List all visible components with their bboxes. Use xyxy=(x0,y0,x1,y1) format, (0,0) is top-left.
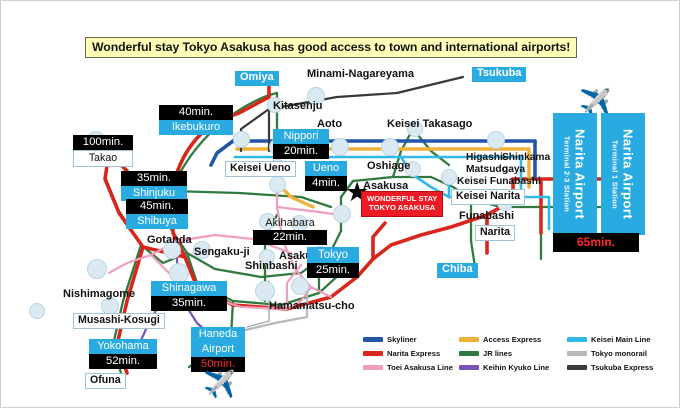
station-sengakuji: Sengaku-ji xyxy=(194,247,250,259)
station-higashi-matsudo-line1: Higashi- xyxy=(466,153,506,164)
station-tsukuba[interactable]: Tsukuba xyxy=(472,67,526,82)
station-musashi-kosugi: Musashi-Kosugi xyxy=(73,313,165,329)
station-nippori-group[interactable]: Nippori 20min. xyxy=(273,129,329,159)
station-hamamatsucho: Hamamatsu-cho xyxy=(269,301,355,313)
station-gotanda: Gotanda xyxy=(147,235,192,247)
station-ikebukuro-group[interactable]: 40min. Ikebukuro xyxy=(159,105,233,135)
station-ofuna: Ofuna xyxy=(85,373,126,389)
narita-terminal-2-3-sub: Terminal 2·3 Station xyxy=(563,136,572,212)
station-dot xyxy=(87,259,107,279)
legend-label: JR lines xyxy=(483,349,512,358)
station-shibuya-group[interactable]: 45min. Shibuya xyxy=(126,199,188,229)
legend-swatch xyxy=(459,337,479,342)
time-takao: 100min. xyxy=(73,135,133,150)
station-shibuya: Shibuya xyxy=(126,214,188,229)
jr-lines xyxy=(105,93,605,373)
station-dot xyxy=(331,138,349,156)
legend-swatch xyxy=(363,351,383,356)
marker-line-2: TOKYO ASAKUSA xyxy=(367,203,437,212)
station-keisei-narita: Keisei Narita xyxy=(451,189,525,205)
station-shinbashi: Shinbashi xyxy=(245,261,298,273)
legend-item-keihin-kyuko-line: Keihin Kyuko Line xyxy=(459,363,567,372)
legend-swatch xyxy=(459,365,479,370)
station-kitasenju: Kitasenju xyxy=(273,101,323,113)
plane-icon: ✈️ xyxy=(579,89,611,115)
legend-item-keisei-main-line: Keisei Main Line xyxy=(567,335,667,344)
station-dot xyxy=(169,263,189,283)
legend-label: Tokyo monorail xyxy=(591,349,647,358)
legend-label: Narita Express xyxy=(387,349,440,358)
route-map: Wonderful stay Tokyo Asakusa has good ac… xyxy=(1,1,679,407)
station-dot xyxy=(333,205,351,223)
legend-item-tsukuba-express: Tsukuba Express xyxy=(567,363,667,372)
time-shinjuku: 35min. xyxy=(121,171,187,186)
narita-terminal-1-panel[interactable]: Narita Airport Terminal 1 Station xyxy=(601,113,645,235)
legend-swatch xyxy=(567,365,587,370)
legend-label: Access Express xyxy=(483,335,541,344)
station-omiya[interactable]: Omiya xyxy=(235,71,279,86)
narita-terminal-1-name: Narita Airport xyxy=(621,129,636,219)
time-shibuya: 45min. xyxy=(126,199,188,214)
legend-swatch xyxy=(459,351,479,356)
time-akihabara: 22min. xyxy=(253,230,327,245)
station-takao-group[interactable]: 100min. Takao xyxy=(73,135,133,167)
station-shinagawa: Shinagawa xyxy=(151,281,227,296)
station-akihabara-group[interactable]: Akihabara 22min. xyxy=(253,217,327,245)
station-nippori: Nippori xyxy=(273,129,329,144)
station-dot xyxy=(291,277,309,295)
legend-swatch xyxy=(363,365,383,370)
station-dot xyxy=(233,131,250,148)
legend-label: Toei Asakusa Line xyxy=(387,363,453,372)
station-tokyo: Tokyo xyxy=(307,247,359,263)
time-nippori: 20min. xyxy=(273,144,329,159)
station-narita: Narita xyxy=(475,225,515,241)
station-ueno-group[interactable]: Ueno 4min. xyxy=(305,161,347,191)
legend-item-jr-lines: JR lines xyxy=(459,349,567,358)
time-narita-airport: 65min. xyxy=(553,233,639,252)
station-dot xyxy=(255,281,275,301)
time-tokyo: 25min. xyxy=(307,263,359,278)
time-ueno: 4min. xyxy=(305,176,347,191)
legend-swatch xyxy=(567,351,587,356)
station-keisei-takasago: Keisei Takasago xyxy=(387,119,472,131)
station-ikebukuro: Ikebukuro xyxy=(159,120,233,135)
station-nishimagome: Nishimagome xyxy=(63,289,135,301)
station-haneda-line2: Airport xyxy=(191,342,245,357)
station-oshiage: Oshiage xyxy=(367,161,410,173)
legend-item-access-express: Access Express xyxy=(459,335,567,344)
station-shinjuku-group[interactable]: 35min. Shinjuku xyxy=(121,171,187,201)
station-yokohama-group[interactable]: Yokohama 52min. xyxy=(89,339,157,369)
legend-swatch xyxy=(363,337,383,342)
station-chiba[interactable]: Chiba xyxy=(437,263,478,278)
station-yokohama: Yokohama xyxy=(89,339,157,354)
narita-terminal-2-3-panel[interactable]: Narita Airport Terminal 2·3 Station xyxy=(553,113,597,235)
station-tokyo-group[interactable]: Tokyo 25min. xyxy=(307,247,359,278)
legend-item-narita-express: Narita Express xyxy=(363,349,459,358)
time-ikebukuro: 40min. xyxy=(159,105,233,120)
station-haneda-line1: Haneda xyxy=(191,327,245,342)
narita-terminal-2-3-name: Narita Airport xyxy=(573,129,588,219)
station-ueno: Ueno xyxy=(305,161,347,176)
station-takao: Takao xyxy=(73,150,133,167)
station-shinkamagaya-line2: gaya xyxy=(502,165,525,176)
station-dot xyxy=(29,303,45,319)
legend-item-skyliner: Skyliner xyxy=(363,335,459,344)
transit-map-page: Wonderful stay Tokyo Asakusa has good ac… xyxy=(0,0,680,408)
legend-item-tokyo-monorail: Tokyo monorail xyxy=(567,349,667,358)
legend: Skyliner Access Express Keisei Main Line… xyxy=(363,335,667,372)
legend-label: Skyliner xyxy=(387,335,417,344)
station-dot xyxy=(269,176,286,193)
plane-icon: ✈️ xyxy=(203,371,235,397)
station-shinagawa-group[interactable]: Shinagawa 35min. xyxy=(151,281,227,311)
station-dot xyxy=(487,131,505,149)
station-haneda-group[interactable]: Haneda Airport 50min. xyxy=(191,327,245,372)
legend-label: Keisei Main Line xyxy=(591,335,651,344)
station-funabashi: Funabashi xyxy=(459,211,514,223)
time-shinagawa: 35min. xyxy=(151,296,227,311)
wonderful-stay-marker[interactable]: WONDERFUL STAY TOKYO ASAKUSA xyxy=(361,191,443,217)
station-shinkamagaya-line1: Shinkama xyxy=(502,153,550,164)
legend-label: Keihin Kyuko Line xyxy=(483,363,549,372)
station-dot xyxy=(441,169,457,185)
station-keisei-funabashi: Keisei Funabashi xyxy=(457,177,541,188)
legend-label: Tsukuba Express xyxy=(591,363,653,372)
headline-banner: Wonderful stay Tokyo Asakusa has good ac… xyxy=(85,37,577,58)
legend-item-toei-asakusa-line: Toei Asakusa Line xyxy=(363,363,459,372)
legend-swatch xyxy=(567,337,587,342)
station-dot xyxy=(381,138,399,156)
station-akihabara: Akihabara xyxy=(253,217,327,229)
station-keisei-ueno: Keisei Ueno xyxy=(225,161,296,177)
narita-terminal-1-sub: Terminal 1 Station xyxy=(611,140,620,209)
station-minami-nagareyama: Minami-Nagareyama xyxy=(307,69,414,81)
marker-line-1: WONDERFUL STAY xyxy=(367,194,437,203)
time-yokohama: 52min. xyxy=(89,354,157,369)
